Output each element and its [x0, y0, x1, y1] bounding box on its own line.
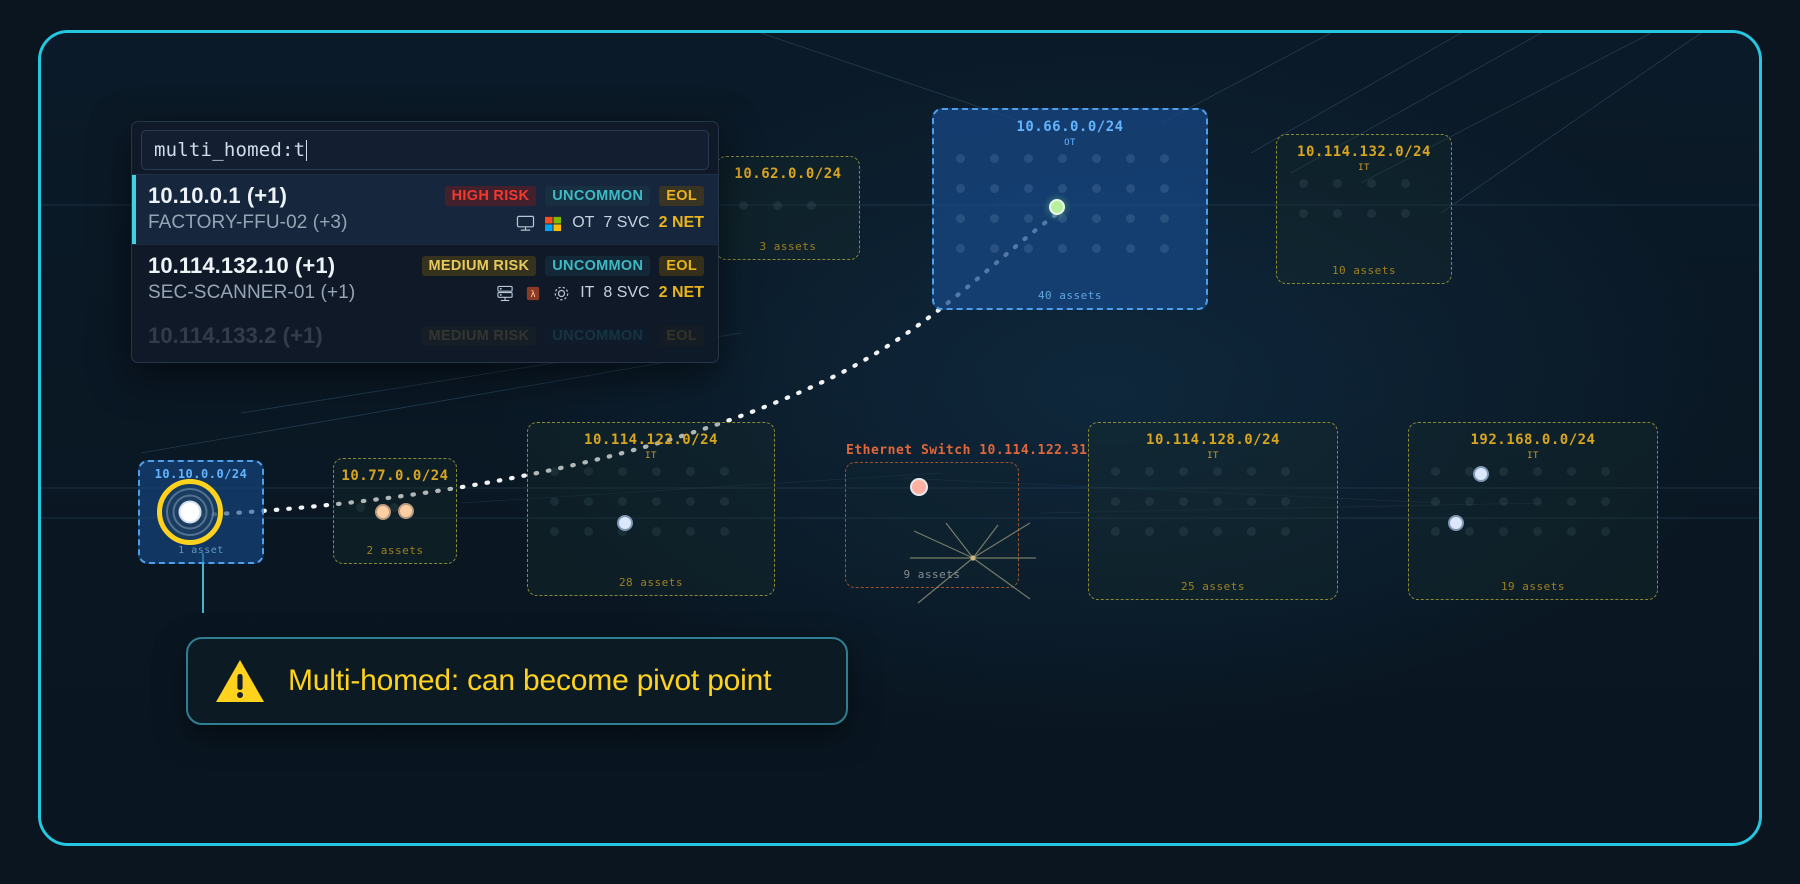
asset-dot	[1160, 184, 1169, 193]
asset-dot	[1126, 244, 1135, 253]
result-zone: OT	[572, 214, 594, 232]
subnet-zone-label: IT	[1089, 451, 1337, 461]
asset-dot	[1160, 154, 1169, 163]
risk-badge: HIGH RISK	[445, 186, 537, 206]
asset-dot	[1367, 209, 1376, 218]
result-ip-address: 10.10.0.1 (+1)	[148, 183, 287, 209]
network-map-canvas[interactable]: 10.62.0.0/243 assets10.66.0.0/24OT40 ass…	[41, 33, 1759, 843]
result-network-count: 2 NET	[659, 284, 704, 302]
subnet-asset-count: 10 assets	[1277, 264, 1451, 277]
search-result-row[interactable]: 10.114.132.10 (+1)MEDIUM RISKUNCOMMONEOL…	[132, 244, 718, 314]
asset-dot	[1533, 497, 1542, 506]
asset-dot	[1179, 497, 1188, 506]
asset-dot	[1126, 184, 1135, 193]
server-icon	[496, 285, 515, 302]
eol-badge: EOL	[659, 256, 704, 276]
search-query-text: multi_homed:t	[154, 139, 305, 161]
subnet-label: 10.66.0.0/24	[934, 119, 1206, 135]
monitor-icon-wrap	[516, 215, 535, 232]
asset-dot	[1567, 497, 1576, 506]
asset-dot	[1145, 497, 1154, 506]
subnet-label: 192.168.0.0/24	[1409, 432, 1657, 448]
asset-dot	[1179, 467, 1188, 476]
asset-dot	[739, 201, 748, 210]
asset-dot-grid	[528, 423, 774, 595]
subnet-box[interactable]: 10.77.0.0/242 assets	[333, 458, 457, 564]
linux-icon: λ	[524, 285, 543, 302]
multi-homed-callout: Multi-homed: can become pivot point	[186, 637, 848, 725]
asset-dot	[807, 201, 816, 210]
asset-dot	[1567, 467, 1576, 476]
result-badges: HIGH RISKUNCOMMONEOL	[445, 186, 704, 206]
asset-node[interactable]	[375, 504, 391, 520]
eol-badge: EOL	[659, 186, 704, 206]
asset-dot	[1092, 184, 1101, 193]
asset-dot	[686, 497, 695, 506]
asset-dot	[1092, 244, 1101, 253]
linux-icon-wrap: λ	[524, 285, 543, 302]
asset-dot	[1024, 154, 1033, 163]
asset-dot	[1431, 497, 1440, 506]
subnet-label: 10.62.0.0/24	[717, 166, 859, 182]
uncommon-badge: UNCOMMON	[545, 256, 650, 276]
gear-icon-wrap	[552, 285, 571, 302]
uncommon-badge: UNCOMMON	[545, 326, 650, 346]
result-zone: IT	[580, 284, 594, 302]
callout-text: Multi-homed: can become pivot point	[288, 664, 771, 698]
selected-asset-node[interactable]	[157, 479, 223, 545]
asset-dot	[990, 244, 999, 253]
asset-dot	[1092, 214, 1101, 223]
asset-dot	[686, 467, 695, 476]
asset-dot	[956, 214, 965, 223]
asset-dot	[584, 467, 593, 476]
subnet-label: Ethernet Switch 10.114.122.31	[846, 443, 1018, 458]
asset-dot-grid	[1089, 423, 1337, 599]
asset-dot	[1111, 527, 1120, 536]
asset-dot	[1058, 244, 1067, 253]
subnet-asset-count: 40 assets	[934, 289, 1206, 302]
asset-dot	[1213, 527, 1222, 536]
asset-dot	[1465, 497, 1474, 506]
subnet-zone-label: IT	[1277, 163, 1451, 173]
asset-dot	[1247, 527, 1256, 536]
search-result-row[interactable]: 10.114.133.2 (+1)MEDIUM RISKUNCOMMONEOL	[132, 314, 718, 362]
result-service-count: 7 SVC	[603, 214, 649, 232]
asset-dot	[773, 201, 782, 210]
subnet-label: 10.114.122.0/24	[528, 432, 774, 448]
asset-dot	[652, 527, 661, 536]
subnet-asset-count: 1 asset	[140, 545, 262, 556]
result-ip-address: 10.114.132.10 (+1)	[148, 253, 335, 279]
risk-badge: MEDIUM RISK	[422, 326, 537, 346]
asset-dot	[1299, 179, 1308, 188]
asset-dot	[1111, 467, 1120, 476]
gear-icon	[552, 285, 571, 302]
asset-dot	[1111, 497, 1120, 506]
search-results-panel[interactable]: multi_homed:t 10.10.0.1 (+1)HIGH RISKUNC…	[131, 121, 719, 363]
subnet-asset-count: 19 assets	[1409, 580, 1657, 593]
asset-dot	[1247, 497, 1256, 506]
asset-dot	[1213, 467, 1222, 476]
asset-dot	[990, 184, 999, 193]
result-row-primary: 10.114.132.10 (+1)MEDIUM RISKUNCOMMONEOL	[148, 253, 704, 279]
result-row-primary: 10.10.0.1 (+1)HIGH RISKUNCOMMONEOL	[148, 183, 704, 209]
result-hostname: SEC-SCANNER-01 (+1)	[148, 282, 355, 304]
subnet-box[interactable]: 10.114.122.0/24IT28 assets	[527, 422, 775, 596]
asset-dot	[1058, 214, 1067, 223]
result-badges: MEDIUM RISKUNCOMMONEOL	[422, 326, 705, 346]
asset-dot	[1126, 214, 1135, 223]
asset-dot	[1179, 527, 1188, 536]
asset-dot	[1567, 527, 1576, 536]
asset-dot	[1401, 209, 1410, 218]
asset-dot	[1126, 154, 1135, 163]
asset-dot	[1213, 497, 1222, 506]
asset-dot	[1024, 184, 1033, 193]
network-map-viewport: 10.62.0.0/243 assets10.66.0.0/24OT40 ass…	[38, 30, 1762, 846]
asset-dot	[1431, 527, 1440, 536]
asset-dot	[956, 244, 965, 253]
asset-dot	[1465, 527, 1474, 536]
warning-triangle-icon	[214, 658, 266, 704]
eol-badge: EOL	[659, 326, 704, 346]
asset-dot	[990, 214, 999, 223]
result-row-secondary: FACTORY-FFU-02 (+3)OT7 SVC2 NET	[148, 212, 704, 234]
subnet-zone-label: OT	[934, 138, 1206, 148]
asset-dot	[1281, 497, 1290, 506]
search-result-row[interactable]: 10.10.0.1 (+1)HIGH RISKUNCOMMONEOLFACTOR…	[132, 174, 718, 244]
subnet-label: 10.114.128.0/24	[1089, 432, 1337, 448]
asset-dot	[1281, 467, 1290, 476]
server-icon-wrap	[496, 285, 515, 302]
asset-dot	[720, 497, 729, 506]
result-badges: MEDIUM RISKUNCOMMONEOL	[422, 256, 705, 276]
asset-dot	[720, 527, 729, 536]
asset-dot	[652, 497, 661, 506]
result-row-primary: 10.114.133.2 (+1)MEDIUM RISKUNCOMMONEOL	[148, 323, 704, 349]
search-input[interactable]: multi_homed:t	[141, 130, 709, 170]
asset-node[interactable]	[1448, 515, 1464, 531]
result-network-count: 2 NET	[659, 214, 704, 232]
result-hostname: FACTORY-FFU-02 (+3)	[148, 212, 348, 234]
asset-dot	[1024, 214, 1033, 223]
asset-dot	[1431, 467, 1440, 476]
result-ip-address: 10.114.133.2 (+1)	[148, 323, 323, 349]
asset-dot	[1533, 527, 1542, 536]
asset-dot	[1601, 467, 1610, 476]
result-row-secondary: SEC-SCANNER-01 (+1)λIT8 SVC2 NET	[148, 282, 704, 304]
subnet-box[interactable]: 10.114.128.0/24IT25 assets	[1088, 422, 1338, 600]
ethernet-switch-links-icon	[886, 495, 1060, 621]
asset-dot	[550, 497, 559, 506]
asset-dot	[1401, 179, 1410, 188]
asset-dot	[956, 154, 965, 163]
asset-node[interactable]	[1049, 199, 1065, 215]
asset-dot	[550, 527, 559, 536]
asset-node[interactable]	[910, 478, 928, 496]
asset-dot	[1367, 179, 1376, 188]
asset-dot	[618, 497, 627, 506]
search-results-list: 10.10.0.1 (+1)HIGH RISKUNCOMMONEOLFACTOR…	[132, 174, 718, 362]
subnet-box[interactable]: 10.62.0.0/243 assets	[716, 156, 860, 260]
asset-dot	[1281, 527, 1290, 536]
risk-badge: MEDIUM RISK	[422, 256, 537, 276]
asset-dot	[1145, 527, 1154, 536]
subnet-zone-label: IT	[528, 451, 774, 461]
result-service-count: 8 SVC	[603, 284, 649, 302]
windows-icon	[544, 215, 563, 232]
uncommon-badge: UNCOMMON	[545, 186, 650, 206]
windows-icon-wrap	[544, 215, 563, 232]
asset-dot	[1160, 214, 1169, 223]
asset-dot	[1058, 154, 1067, 163]
asset-node[interactable]	[1473, 466, 1489, 482]
asset-dot	[686, 527, 695, 536]
asset-dot	[1247, 467, 1256, 476]
result-meta: λIT8 SVC2 NET	[496, 284, 704, 302]
asset-dot	[550, 467, 559, 476]
asset-dot	[652, 467, 661, 476]
screenshot-root: 10.62.0.0/243 assets10.66.0.0/24OT40 ass…	[0, 0, 1800, 884]
subnet-asset-count: 25 assets	[1089, 580, 1337, 593]
subnet-label: 10.114.132.0/24	[1277, 144, 1451, 160]
asset-dot	[1601, 497, 1610, 506]
asset-dot	[990, 154, 999, 163]
subnet-box[interactable]: 10.114.132.0/24IT10 assets	[1276, 134, 1452, 284]
asset-dot	[1024, 244, 1033, 253]
asset-dot	[1092, 154, 1101, 163]
subnet-box[interactable]: 10.66.0.0/24OT40 assets	[932, 108, 1208, 310]
subnet-label: 10.77.0.0/24	[334, 468, 456, 484]
asset-dot	[1499, 527, 1508, 536]
asset-dot	[618, 467, 627, 476]
monitor-icon	[516, 215, 535, 232]
subnet-box[interactable]: 192.168.0.0/24IT19 assets	[1408, 422, 1658, 600]
asset-dot	[956, 184, 965, 193]
asset-dot	[1601, 527, 1610, 536]
subnet-asset-count: 28 assets	[528, 576, 774, 589]
asset-dot	[356, 503, 365, 512]
result-meta: OT7 SVC2 NET	[516, 214, 704, 232]
asset-dot	[584, 527, 593, 536]
selected-highlight-ring	[157, 479, 223, 545]
asset-dot	[1299, 209, 1308, 218]
subnet-asset-count: 2 assets	[334, 544, 456, 557]
text-caret	[306, 140, 307, 161]
asset-dot	[1145, 467, 1154, 476]
svg-text:λ: λ	[531, 289, 536, 299]
asset-dot	[1333, 179, 1342, 188]
asset-dot	[1333, 209, 1342, 218]
subnet-asset-count: 3 assets	[717, 240, 859, 253]
asset-dot	[1160, 244, 1169, 253]
asset-dot	[720, 467, 729, 476]
asset-dot	[1499, 497, 1508, 506]
asset-node[interactable]	[398, 503, 414, 519]
asset-dot	[1058, 184, 1067, 193]
asset-node[interactable]	[617, 515, 633, 531]
asset-dot-grid	[1409, 423, 1657, 599]
asset-dot	[1533, 467, 1542, 476]
asset-dot	[1499, 467, 1508, 476]
subnet-zone-label: IT	[1409, 451, 1657, 461]
asset-dot	[584, 497, 593, 506]
